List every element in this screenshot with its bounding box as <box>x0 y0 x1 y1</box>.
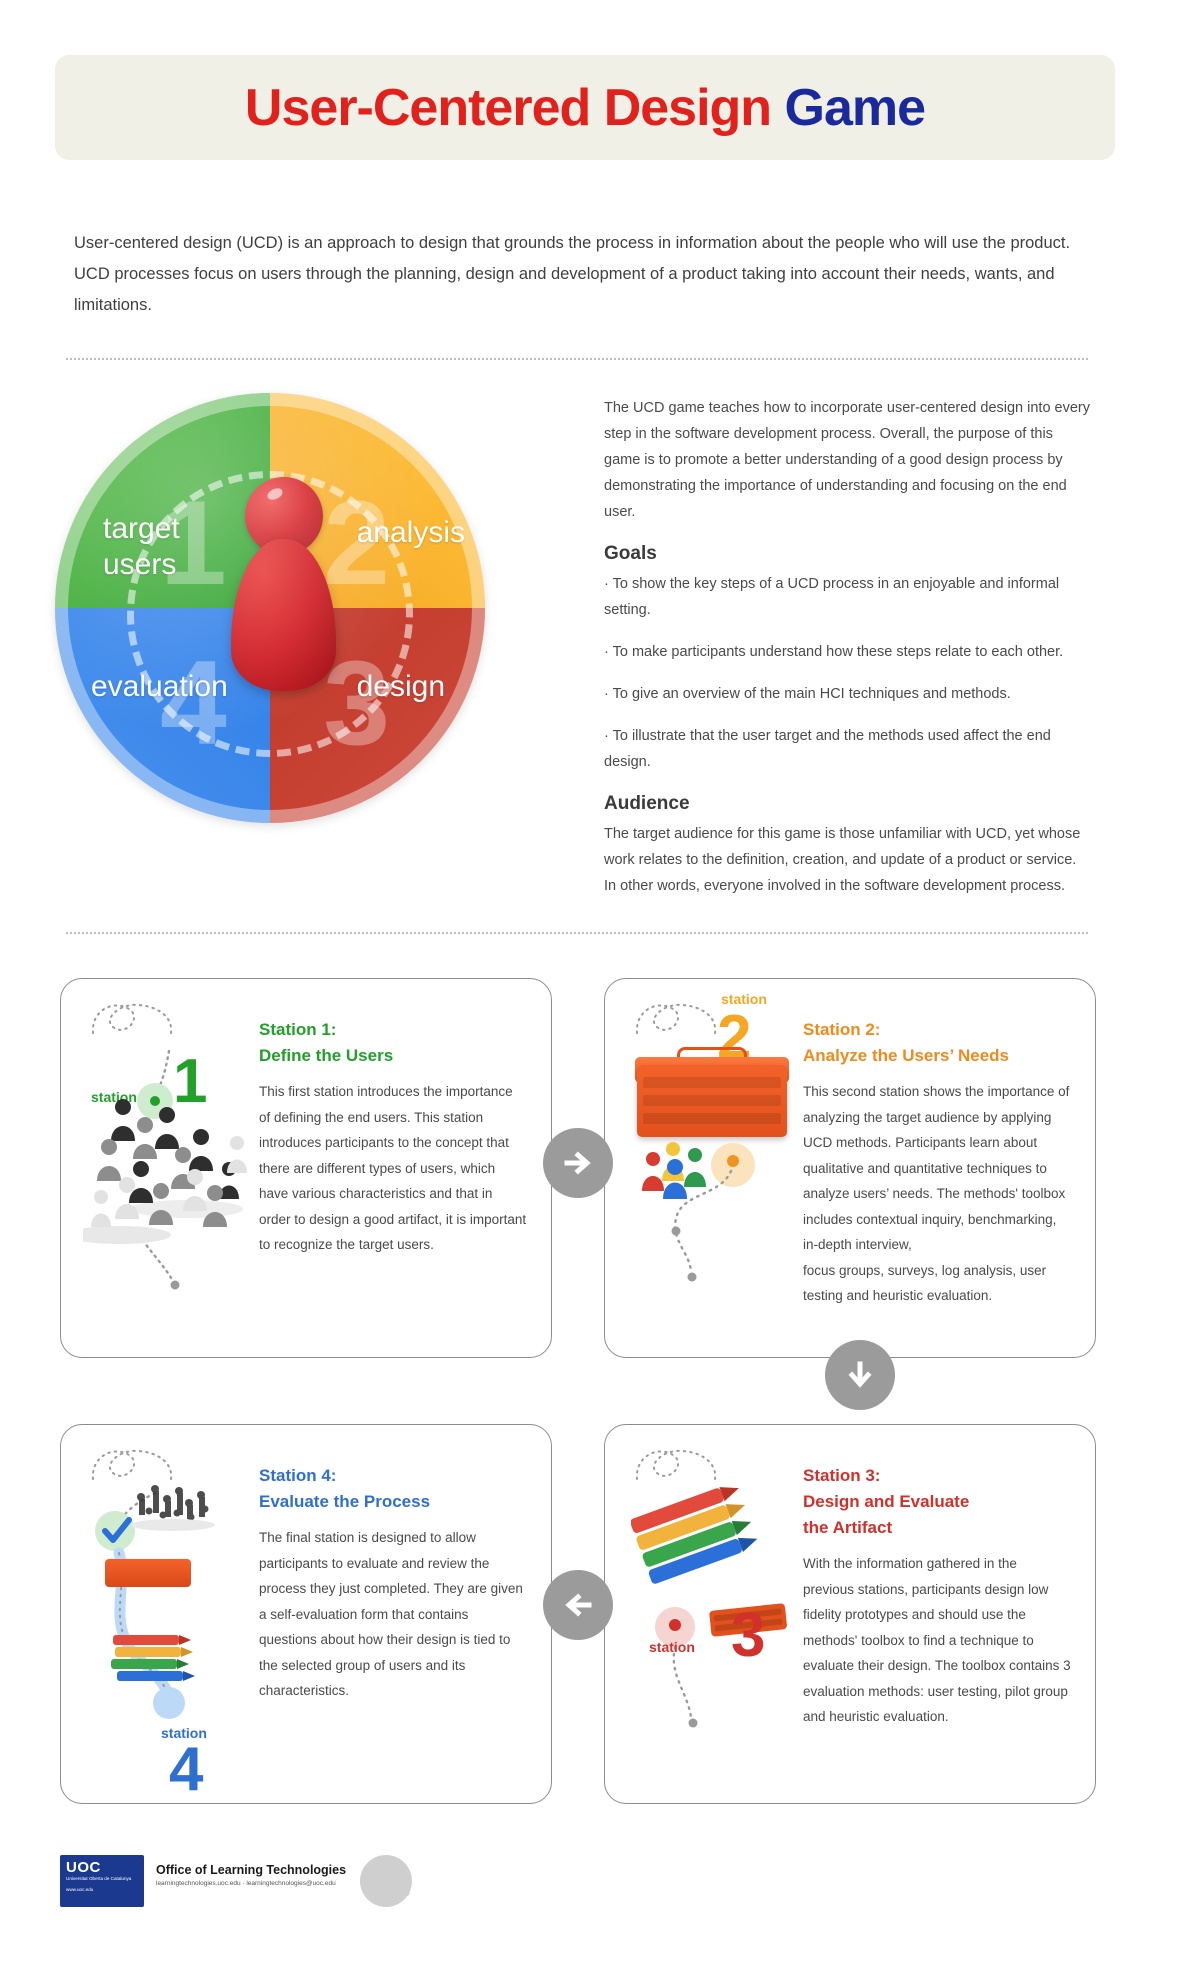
footer: UOC Universitat Oberta de Catalunya www.… <box>60 1855 480 1925</box>
station-3-body: With the information gathered in the pre… <box>803 1551 1071 1730</box>
station-4-body: The final station is designed to allow p… <box>259 1525 527 1704</box>
office-contact: learningtechnologies.uoc.edu · learningt… <box>156 1880 346 1887</box>
station-4-badge-number: 4 <box>169 1739 203 1801</box>
office-of-learning-technologies: Office of Learning Technologies learning… <box>156 1863 346 1887</box>
station-3-badge-number: 3 <box>731 1605 765 1667</box>
crowd-of-pawns-icon <box>83 1085 253 1245</box>
wheel-label-evaluation: evaluation <box>91 669 228 705</box>
intro-paragraph: User-centered design (UCD) is an approac… <box>74 228 1094 321</box>
station-4-title-line1: Station 4: <box>259 1463 527 1489</box>
audience-heading: Audience <box>604 791 1092 817</box>
wheel-label-design: design <box>357 669 445 705</box>
station-2-title-line1: Station 2: <box>803 1017 1071 1043</box>
header-banner: User-Centered Design Game <box>55 55 1115 160</box>
goal-item: · To make participants understand how th… <box>604 639 1092 665</box>
station-card-1[interactable]: station 1 <box>60 978 552 1358</box>
station-1-title-line2: Define the Users <box>259 1043 527 1069</box>
pawn-body <box>231 539 336 691</box>
uoc-logo-subtitle: Universitat Oberta de Catalunya <box>66 1876 138 1882</box>
station-card-4[interactable]: station 4 Station 4: Evaluate the Proces… <box>60 1424 552 1804</box>
colored-pawns-icon <box>639 1141 729 1199</box>
side-lead-paragraph: The UCD game teaches how to incorporate … <box>604 395 1092 525</box>
crayons-icon <box>105 1631 201 1685</box>
station-1-illustration: station 1 <box>69 989 255 1349</box>
station-2-body: This second station shows the importance… <box>803 1079 1071 1258</box>
arrow-left-icon <box>543 1570 613 1640</box>
station-4-title: Station 4: Evaluate the Process <box>259 1463 527 1515</box>
audience-paragraph: The target audience for this game is tho… <box>604 821 1092 899</box>
page-title: User-Centered Design Game <box>245 78 925 138</box>
station-3-badge-word: station <box>649 1639 695 1655</box>
station-1-body: This first station introduces the import… <box>259 1079 527 1258</box>
wheel-disc: 1 2 3 4 target users analysis design eva… <box>55 393 485 823</box>
arrow-left-glyph <box>559 1586 597 1624</box>
station-card-3[interactable]: station 3 Station 3: Design and Evaluate… <box>604 1424 1096 1804</box>
station-2-illustration: station 2 <box>613 989 799 1349</box>
arrow-right-icon <box>543 1128 613 1198</box>
station-2-title: Station 2: Analyze the Users’ Needs <box>803 1017 1071 1069</box>
station-3-title: Station 3: Design and Evaluate the Artif… <box>803 1463 1071 1541</box>
divider-top <box>66 358 1088 360</box>
magnifier-icon <box>360 1855 412 1907</box>
office-title: Office of Learning Technologies <box>156 1863 346 1877</box>
arrow-right-glyph <box>559 1144 597 1182</box>
goals-block: Goals · To show the key steps of a UCD p… <box>604 541 1092 775</box>
station-3-path-trail <box>613 1435 799 1795</box>
station-3-title-line3: the Artifact <box>803 1515 1071 1541</box>
uoc-logo-name: UOC <box>66 1860 138 1875</box>
station-3-illustration: station 3 <box>613 1435 799 1795</box>
ucd-cycle-diagram: 1 2 3 4 target users analysis design eva… <box>55 385 485 830</box>
arrow-down-icon <box>825 1340 895 1410</box>
audience-block: Audience The target audience for this ga… <box>604 791 1092 899</box>
station-1-title-line1: Station 1: <box>259 1017 527 1043</box>
station-4-path-trail <box>69 1435 255 1795</box>
station-2-body-continued: focus groups, surveys, log analysis, use… <box>803 1258 1071 1309</box>
arrow-down-glyph <box>841 1356 879 1394</box>
page-title-primary: User-Centered Design <box>245 79 771 137</box>
goals-heading: Goals <box>604 541 1092 567</box>
goal-item: · To show the key steps of a UCD process… <box>604 571 1092 623</box>
uoc-logo-url: www.uoc.edu <box>66 1887 138 1892</box>
wheel-label-target-users: target users <box>103 511 243 583</box>
goal-item: · To give an overview of the main HCI te… <box>604 681 1092 707</box>
station-2-title-line2: Analyze the Users’ Needs <box>803 1043 1071 1069</box>
wheel-label-analysis: analysis <box>357 515 465 551</box>
goal-item: · To illustrate that the user target and… <box>604 723 1092 775</box>
page-title-secondary: Game <box>785 79 926 137</box>
station-1-title: Station 1: Define the Users <box>259 1017 527 1069</box>
station-4-text: Station 4: Evaluate the Process The fina… <box>259 1463 527 1704</box>
station-3-title-line2: Design and Evaluate <box>803 1489 1071 1515</box>
station-1-text: Station 1: Define the Users This first s… <box>259 1017 527 1258</box>
crayon-box-icon <box>105 1559 191 1587</box>
divider-bottom <box>66 932 1088 934</box>
side-text-column: The UCD game teaches how to incorporate … <box>604 395 1092 915</box>
station-3-text: Station 3: Design and Evaluate the Artif… <box>803 1463 1071 1730</box>
station-2-text: Station 2: Analyze the Users’ Needs This… <box>803 1017 1071 1309</box>
uoc-logo: UOC Universitat Oberta de Catalunya www.… <box>60 1855 144 1907</box>
red-pawn-icon <box>231 477 336 692</box>
station-4-title-line2: Evaluate the Process <box>259 1489 527 1515</box>
station-card-2[interactable]: station 2 <box>604 978 1096 1358</box>
station-4-illustration: station 4 <box>69 1435 255 1795</box>
station-3-title-line1: Station 3: <box>803 1463 1071 1489</box>
